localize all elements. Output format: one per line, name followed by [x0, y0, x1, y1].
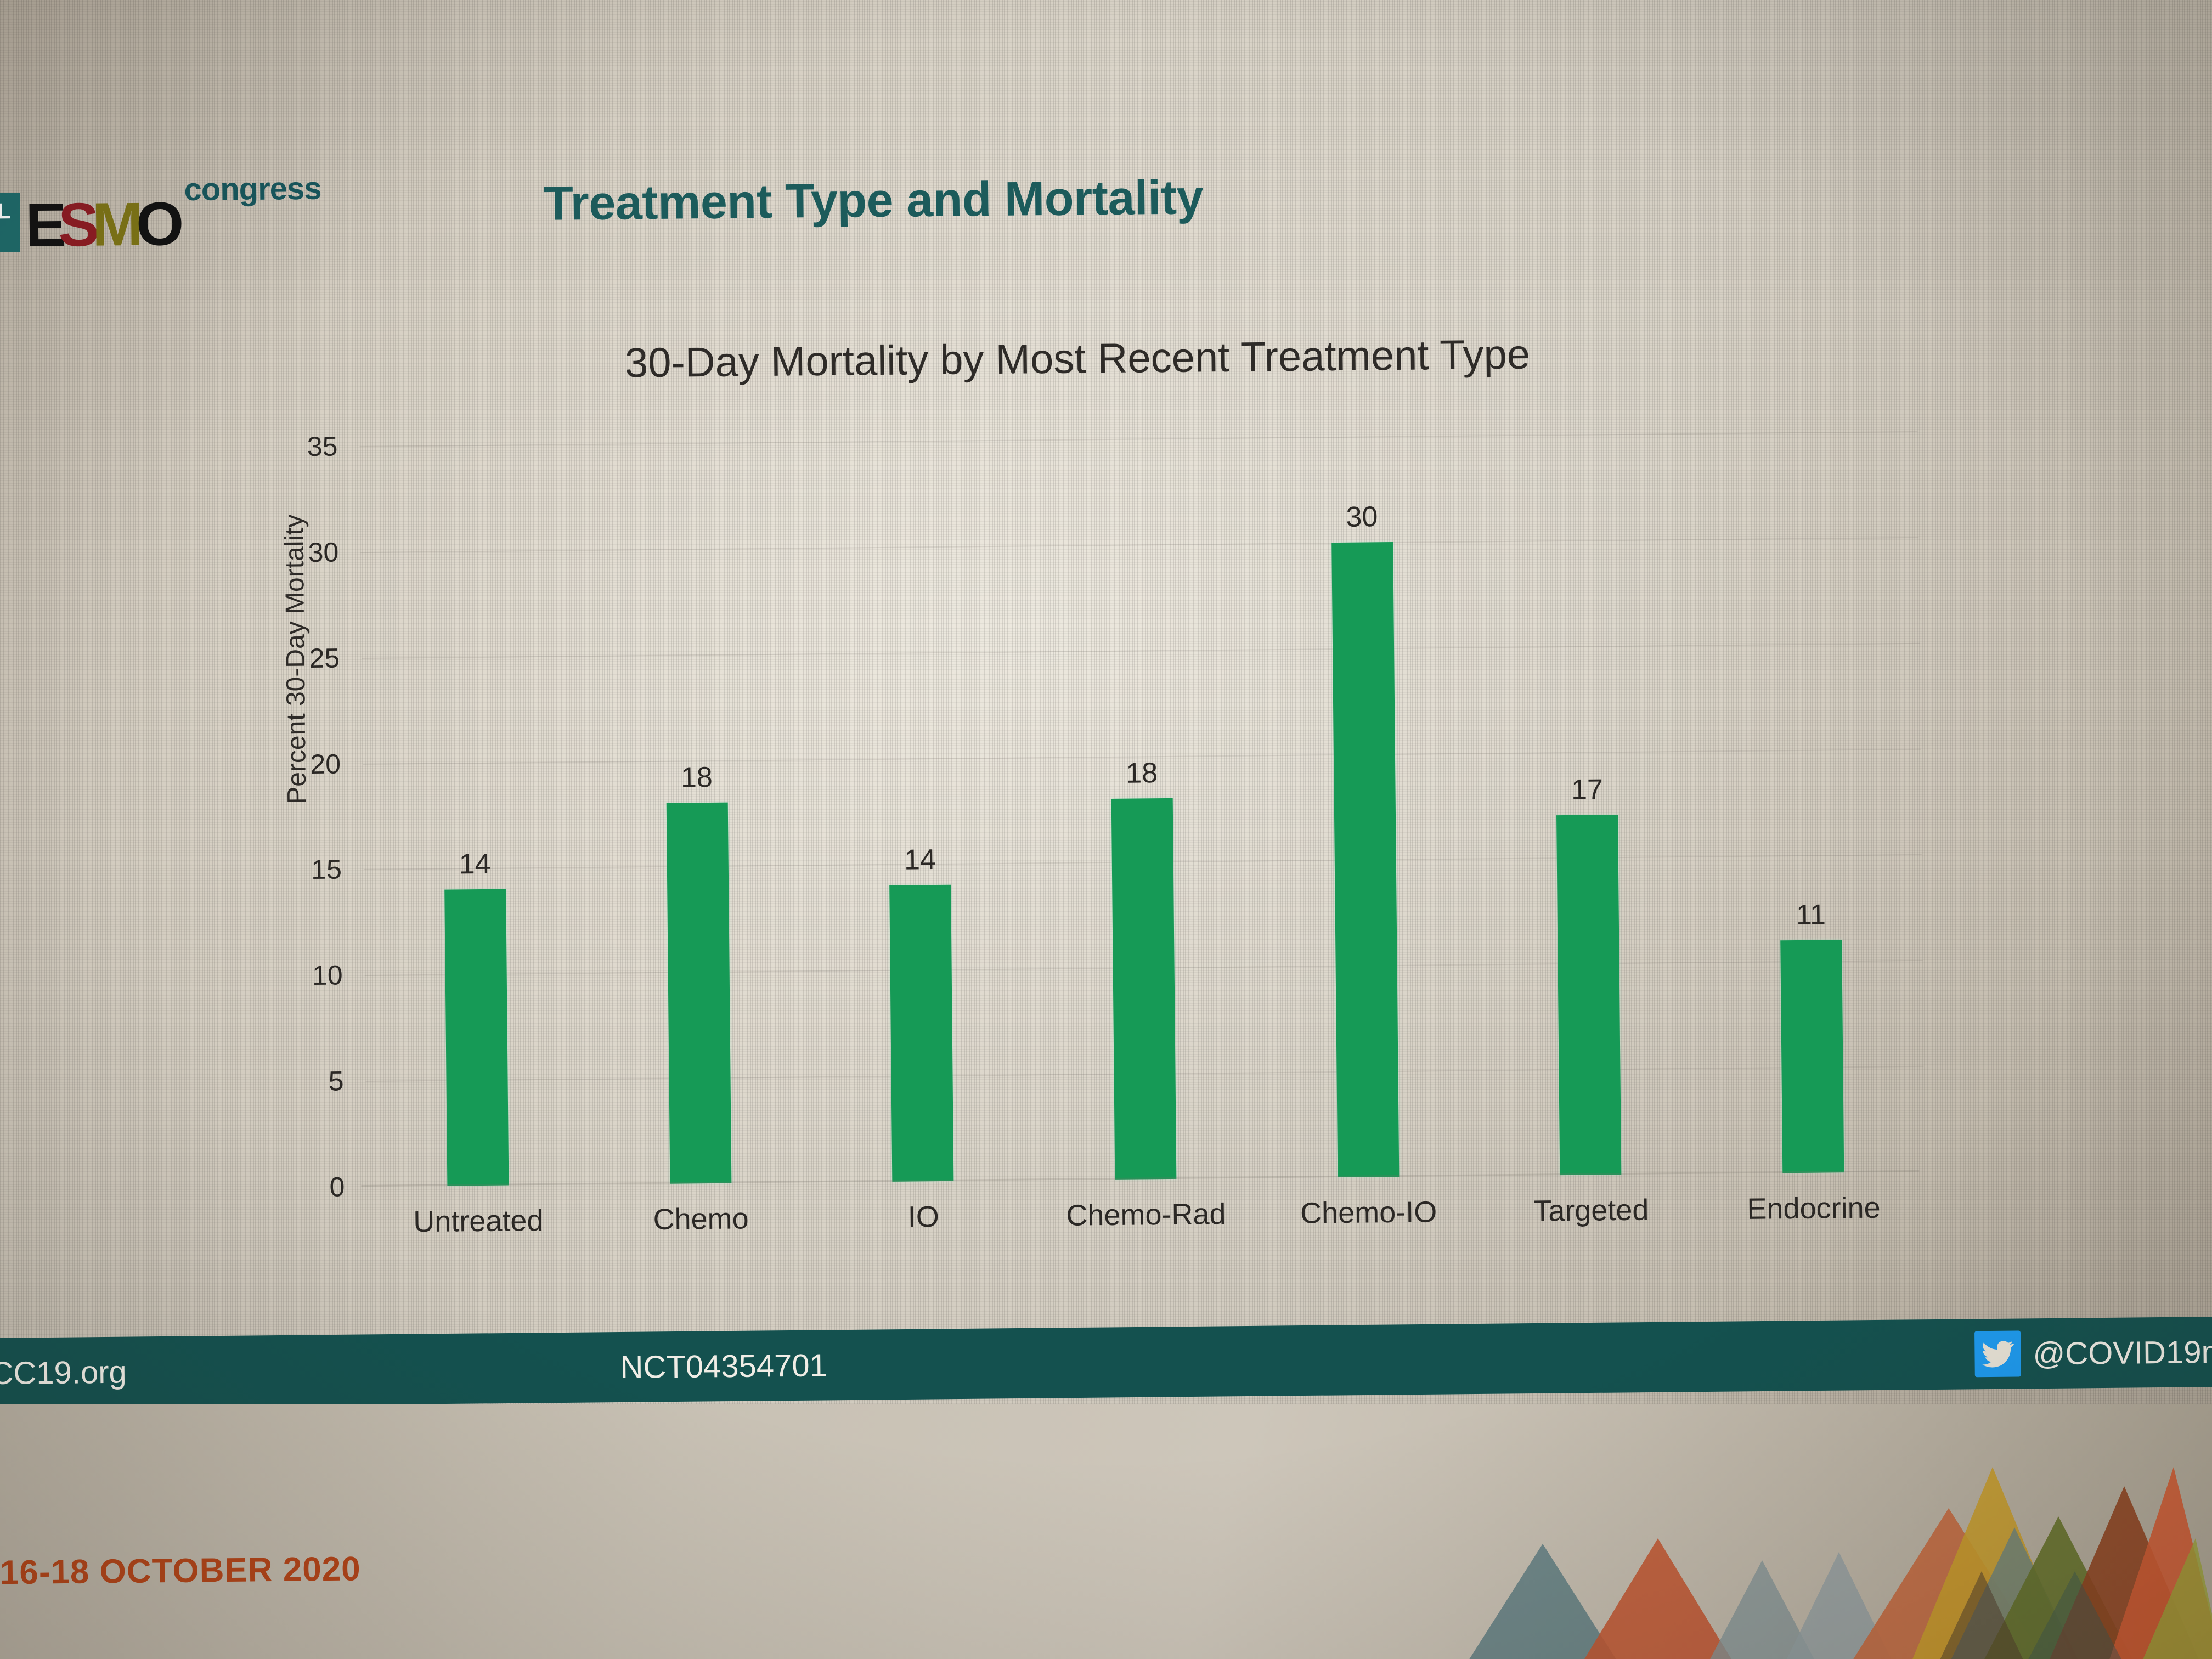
- logo-congress-word: congress: [184, 170, 321, 208]
- y-tick-label: 25: [309, 642, 340, 674]
- footer-twitter-handle[interactable]: @COVID19nCCC: [2033, 1333, 2212, 1372]
- plot-area: 35302520151050 14181418301711 UntreatedC…: [359, 431, 1925, 1187]
- logo-year-text: 2020: [0, 223, 12, 246]
- x-tick-label: Chemo-IO: [1300, 1195, 1437, 1230]
- y-tick-label: 15: [311, 854, 342, 886]
- bar-column: 14: [410, 444, 538, 1186]
- logo-virtual-2020-badge: VIRTUAL 2020: [0, 193, 20, 253]
- logo-letter-m: M: [92, 198, 142, 251]
- x-tick-label: Endocrine: [1747, 1191, 1881, 1226]
- bar[interactable]: [1331, 542, 1399, 1177]
- footer-twitter-group[interactable]: @COVID19nCCC: [1974, 1328, 2212, 1377]
- x-tick-label: Untreated: [413, 1204, 544, 1239]
- y-axis-label: Percent 30-Day Mortality: [279, 467, 313, 851]
- y-tick-label: 30: [308, 536, 338, 568]
- x-tick-label: IO: [907, 1200, 939, 1234]
- logo-virtual-text: VIRTUAL: [0, 200, 11, 223]
- bar[interactable]: [666, 802, 731, 1183]
- slide-title: Treatment Type and Mortality: [544, 169, 1204, 232]
- chart-title: 30-Day Mortality by Most Recent Treatmen…: [364, 328, 1791, 390]
- bar-column: 14: [856, 440, 984, 1182]
- bar-column: 18: [633, 442, 761, 1184]
- x-tick-label: Targeted: [1533, 1193, 1649, 1228]
- decorative-triangle-pattern: [1400, 1434, 2212, 1659]
- bar[interactable]: [1780, 940, 1844, 1173]
- bar-value-label: 18: [1126, 757, 1158, 790]
- bar[interactable]: [1556, 815, 1621, 1175]
- footer-nct-number: NCT04354701: [620, 1347, 827, 1386]
- bar[interactable]: [889, 885, 953, 1182]
- bar[interactable]: [1111, 798, 1177, 1180]
- bar-column: 30: [1301, 436, 1429, 1177]
- bar-value-label: 11: [1796, 898, 1826, 932]
- x-tick-label: Chemo: [653, 1201, 749, 1237]
- presentation-slide: VIRTUAL 2020 ESMO congress Treatment Typ…: [0, 11, 2212, 1393]
- photo-of-presentation-screen: VIRTUAL 2020 ESMO congress Treatment Typ…: [0, 0, 2212, 1659]
- y-tick-label: 10: [312, 960, 343, 992]
- bar-column: 17: [1523, 434, 1651, 1176]
- x-tick-label: Chemo-Rad: [1066, 1197, 1226, 1233]
- logo-letter-o: O: [136, 198, 183, 251]
- bar-value-label: 18: [681, 761, 713, 794]
- bar-value-label: 14: [904, 843, 936, 877]
- esmo-congress-logo: VIRTUAL 2020 ESMO congress: [0, 172, 322, 253]
- y-tick-label: 20: [310, 748, 341, 780]
- y-tick-label: 0: [329, 1171, 345, 1203]
- y-tick-label: 35: [307, 430, 338, 462]
- bar-value-label: 30: [1346, 500, 1378, 534]
- footer-website[interactable]: CCC19.org: [0, 1353, 127, 1392]
- below-slide-area: : 16-18 OCTOBER 2020: [0, 1404, 2212, 1659]
- bar-value-label: 14: [459, 848, 490, 881]
- twitter-icon[interactable]: [1974, 1330, 2021, 1377]
- congress-date-text: : 16-18 OCTOBER 2020: [0, 1549, 361, 1592]
- logo-esmo-wordmark: ESMO: [25, 198, 183, 252]
- bar-chart: 30-Day Mortality by Most Recent Treatmen…: [194, 321, 1959, 1260]
- y-tick-label: 5: [328, 1065, 343, 1097]
- bar[interactable]: [444, 889, 509, 1186]
- bar-value-label: 17: [1571, 774, 1603, 807]
- bar-column: 18: [1078, 438, 1206, 1180]
- bar-column: 11: [1746, 432, 1874, 1173]
